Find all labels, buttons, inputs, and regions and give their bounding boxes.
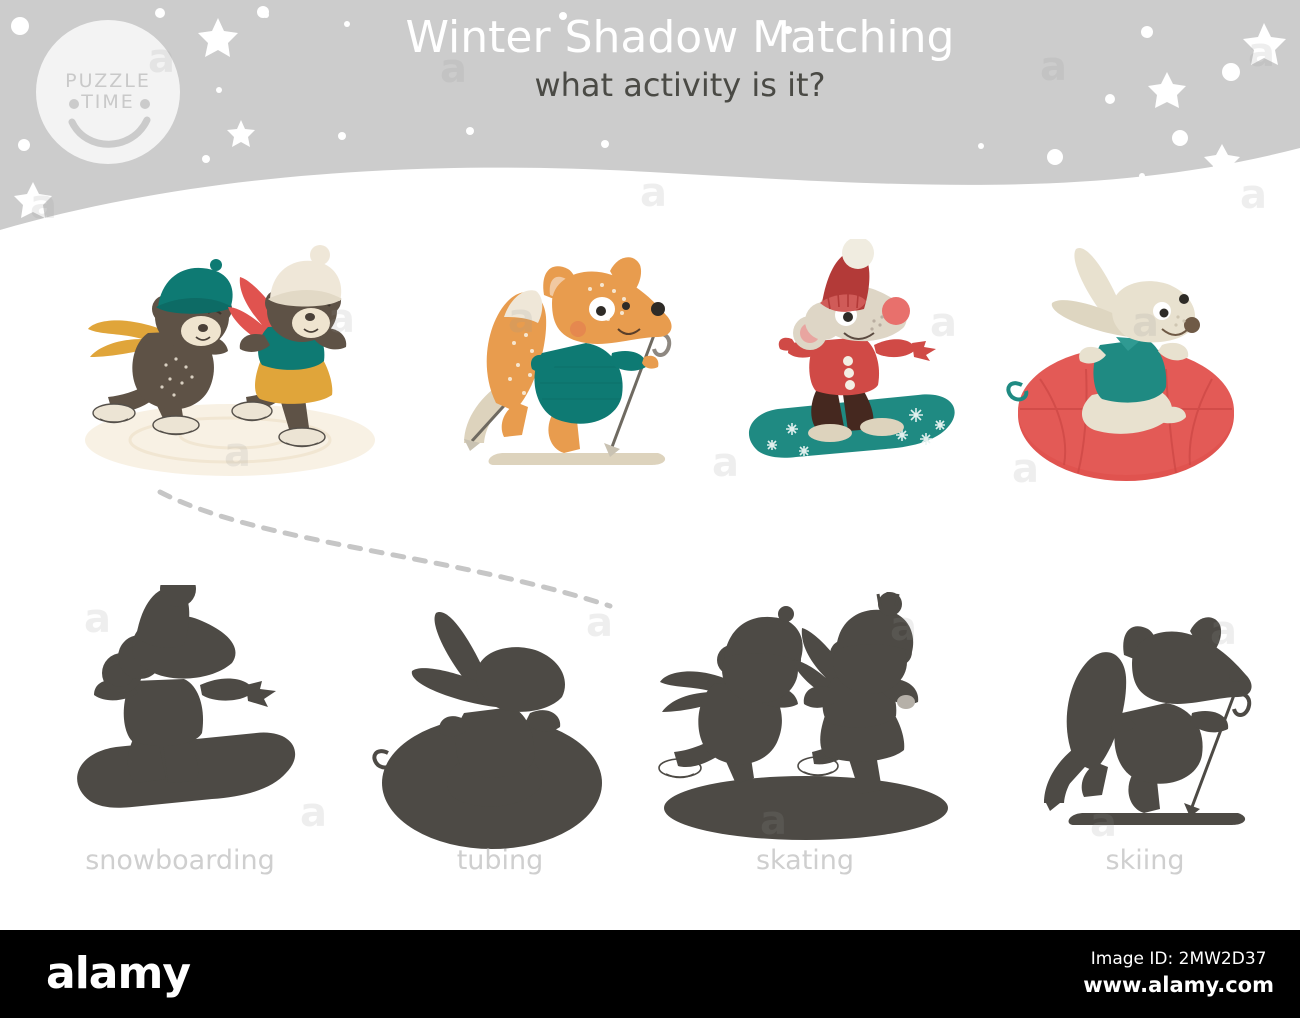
rabbit-tubing[interactable] [1006,233,1244,492]
label-snowboarding: snowboarding [55,845,305,876]
shadow-row [0,585,1300,860]
page-title: Winter Shadow Matching [300,14,1060,62]
puzzle-time-logo: PUZZLE TIME [28,12,188,172]
header-banner: PUZZLE TIME Winter Shadow Matching what … [0,0,1300,240]
fox-skiing[interactable] [440,243,720,492]
shadow-skating[interactable] [638,590,968,854]
footer-meta: Image ID: 2MW2D37 www.alamy.com [1083,948,1274,999]
picture-row [0,225,1300,490]
alamy-logo: alamy [46,952,190,996]
title-block: Winter Shadow Matching what activity is … [300,14,1060,104]
alamy-url: www.alamy.com [1083,971,1274,999]
page-subtitle: what activity is it? [300,68,1060,103]
label-skiing: skiing [1020,845,1270,876]
mouse-snowboarding[interactable] [736,239,981,483]
shadow-labels: snowboarding tubing skating skiing [0,845,1300,885]
footer-bar: alamy Image ID: 2MW2D37 www.alamy.com [0,930,1300,1018]
shadow-skiing[interactable] [1020,603,1270,852]
worksheet-page: PUZZLE TIME Winter Shadow Matching what … [0,0,1300,1018]
label-skating: skating [680,845,930,876]
shadow-tubing[interactable] [370,605,610,859]
two-bears-ice-skating[interactable] [70,235,410,489]
shadow-snowboarding[interactable] [60,585,310,854]
label-tubing: tubing [375,845,625,876]
image-id-text: Image ID: 2MW2D37 [1083,948,1274,971]
